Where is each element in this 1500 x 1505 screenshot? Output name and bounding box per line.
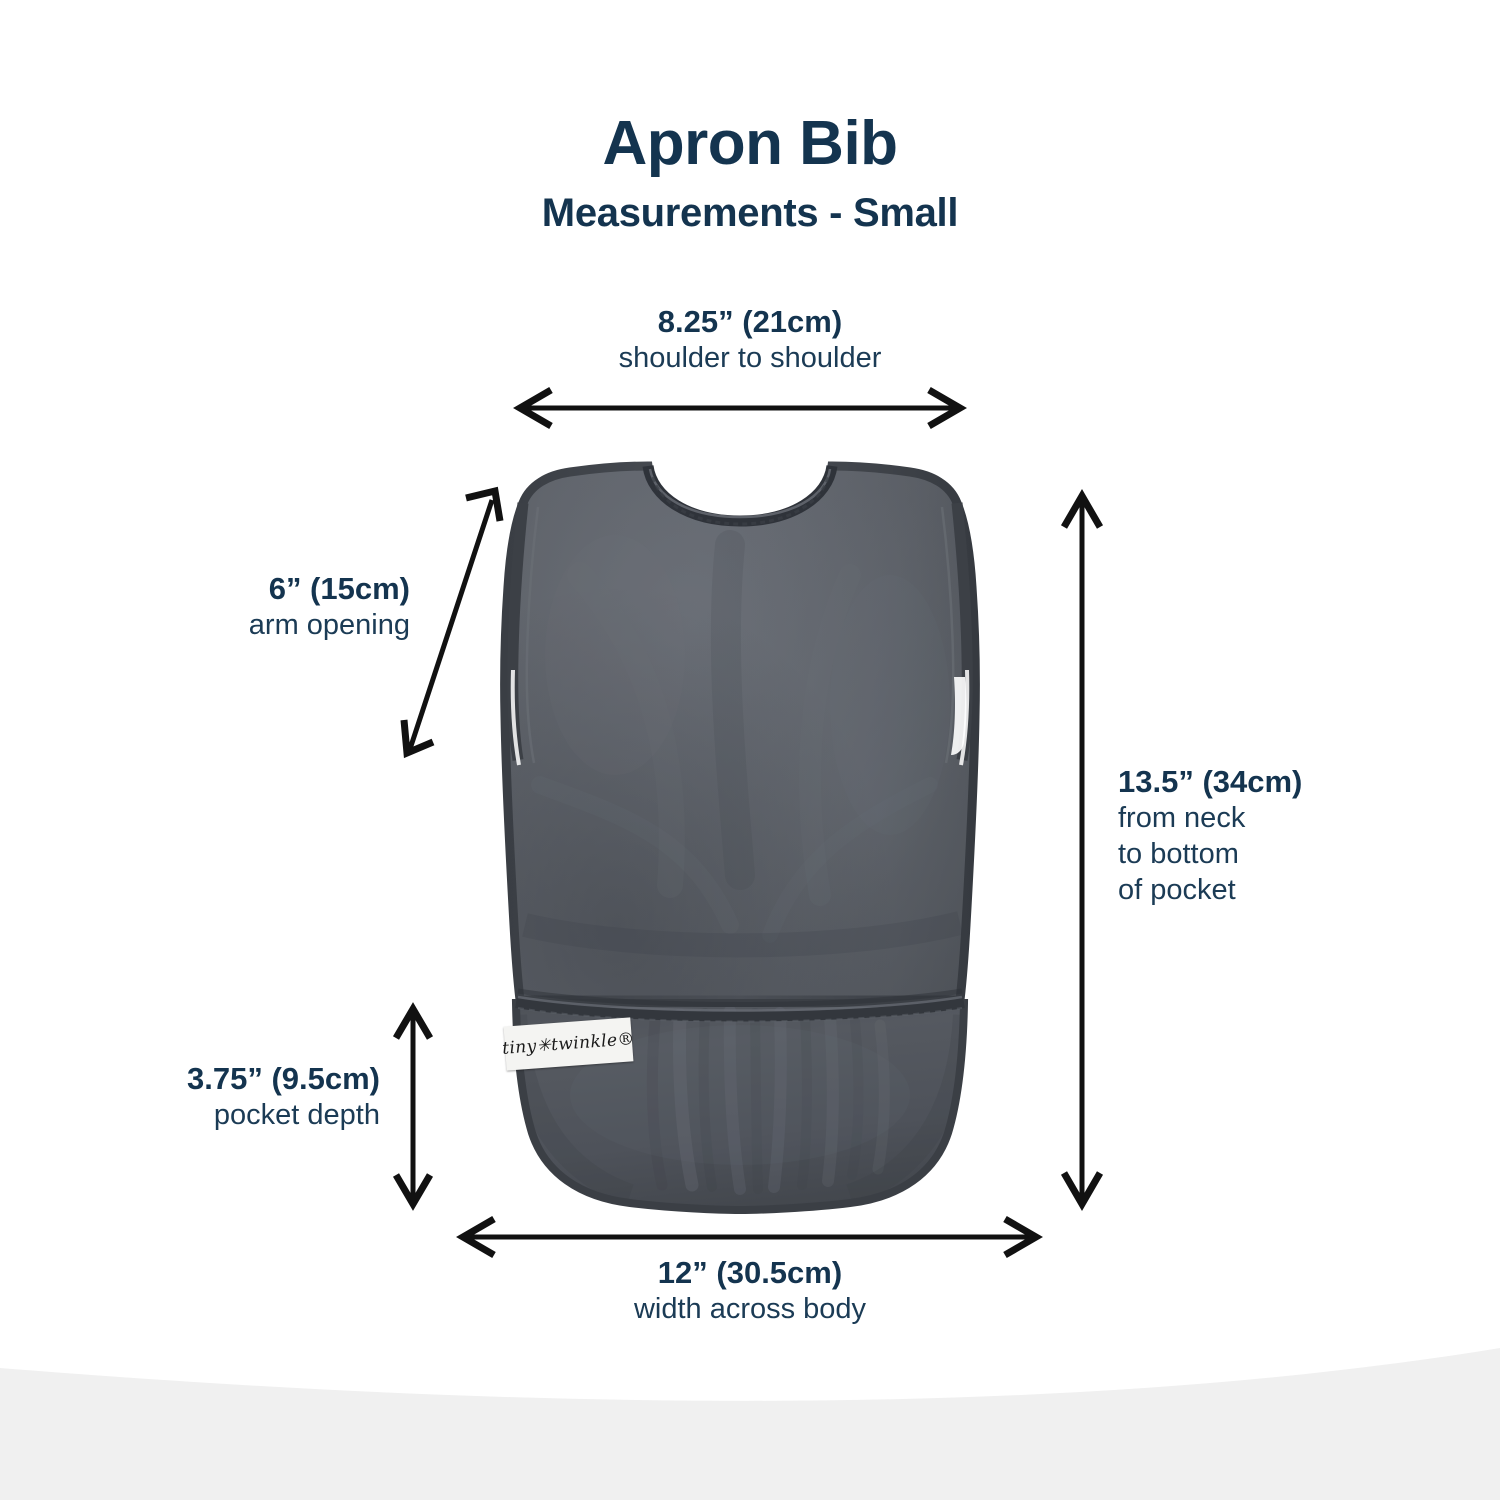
measurement-label-arm-opening: 6” (15cm) arm opening (30, 570, 410, 644)
measurement-desc-shoulder: shoulder to shoulder (0, 341, 1500, 377)
brand-label: tiny✳twinkle® (504, 1017, 634, 1070)
arrow-width-across-body (463, 1219, 1036, 1255)
arrow-shoulder-to-shoulder (520, 390, 960, 426)
measurement-diagram-page: Apron Bib Measurements - Small (0, 0, 1500, 1500)
page-subtitle: Measurements - Small (0, 191, 1500, 235)
measurement-value-arm-opening: 6” (15cm) (30, 570, 410, 608)
measurement-desc-arm-opening: arm opening (30, 608, 410, 644)
apron-bib-image (430, 455, 1050, 1215)
measurement-desc-neck-to-pocket-line2: to bottom (1118, 837, 1448, 873)
measurement-desc-neck-to-pocket-line1: from neck (1118, 801, 1448, 837)
measurement-value-pocket-depth: 3.75” (9.5cm) (20, 1060, 380, 1098)
measurement-desc-pocket-depth: pocket depth (20, 1098, 380, 1134)
measurement-label-neck-to-pocket: 13.5” (34cm) from neck to bottom of pock… (1118, 763, 1448, 909)
measurement-value-neck-to-pocket: 13.5” (34cm) (1118, 763, 1448, 801)
measurement-label-pocket-depth: 3.75” (9.5cm) pocket depth (20, 1060, 380, 1134)
measurement-label-width: 12” (30.5cm) width across body (0, 1254, 1500, 1328)
measurement-desc-neck-to-pocket-line3: of pocket (1118, 873, 1448, 909)
page-title-block: Apron Bib Measurements - Small (0, 112, 1500, 235)
arrow-pocket-depth (396, 1009, 430, 1204)
page-title: Apron Bib (0, 112, 1500, 175)
measurement-value-shoulder: 8.25” (21cm) (0, 303, 1500, 341)
measurement-label-shoulder: 8.25” (21cm) shoulder to shoulder (0, 303, 1500, 377)
measurement-desc-width: width across body (0, 1292, 1500, 1328)
arrow-neck-to-pocket (1064, 496, 1100, 1204)
measurement-value-width: 12” (30.5cm) (0, 1254, 1500, 1292)
brand-label-text: tiny✳twinkle® (502, 1029, 636, 1059)
